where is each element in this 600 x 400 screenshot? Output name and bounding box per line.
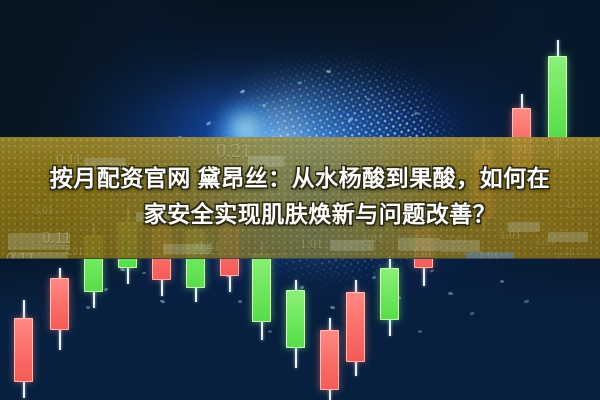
candlestick-body-down <box>346 292 365 362</box>
band-number: 0.41 <box>196 240 221 256</box>
band-number: 1.01 <box>300 236 323 252</box>
candlestick <box>14 300 33 398</box>
candlestick-body-down <box>320 330 339 390</box>
band-number: 0.11 <box>520 142 542 158</box>
band-number: 1.01 <box>362 231 383 246</box>
candlestick <box>380 256 399 336</box>
page-title: 按月配资官网 黛昂丝：从水杨酸到果酸，如何在 家安全实现肌肤焕新与问题改善？ <box>0 160 600 232</box>
headline-line-1: 按月配资官网 黛昂丝：从水杨酸到果酸，如何在 <box>18 160 582 196</box>
band-number: 1.11 <box>536 236 555 248</box>
band-seam-line <box>0 258 600 259</box>
band-number: 0.11 <box>566 246 585 258</box>
candlestick-body-up <box>380 268 399 320</box>
candlestick <box>346 280 365 376</box>
candlestick-body-down <box>14 318 33 382</box>
band-number: 1.01 <box>448 234 467 246</box>
candlestick-body-down <box>50 278 69 330</box>
candlestick <box>50 268 69 350</box>
band-number: 1.01 <box>64 246 83 258</box>
headline-line-2: 家安全实现肌肤焕新与问题改善？ <box>18 196 582 232</box>
candlestick-body-up <box>252 254 271 322</box>
candlestick <box>286 280 305 368</box>
banner-image: 0.110.110.211.010.110.111.011.110.211.01… <box>0 0 600 400</box>
candlestick-body-up <box>286 290 305 348</box>
candlestick-body-up <box>548 56 567 138</box>
candlestick <box>320 318 339 400</box>
